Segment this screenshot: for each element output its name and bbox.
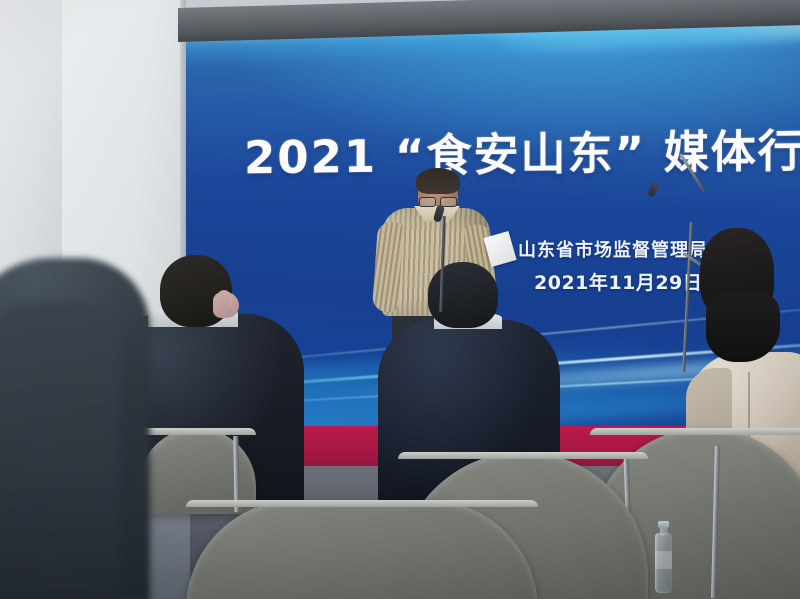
audience-center-head xyxy=(428,262,498,328)
screen-title: 2021 “食安山东” 媒体行 xyxy=(244,115,800,187)
water-bottle-cap xyxy=(658,521,669,528)
screen-subtitle: 山东省市场监督管理局 xyxy=(518,236,708,262)
face-mask-earloop-icon xyxy=(216,290,232,310)
foreground-person-left-shoulder xyxy=(0,300,120,599)
speaker-hair xyxy=(416,168,460,194)
audience-right-hair xyxy=(706,292,780,362)
conference-photo: 2021 “食安山东” 媒体行 山东省市场监督管理局 2021年11月29日 xyxy=(0,0,800,599)
screen-date: 2021年11月29日 xyxy=(534,268,702,295)
eyeglasses-icon xyxy=(419,197,457,205)
water-bottle-label xyxy=(655,551,672,569)
